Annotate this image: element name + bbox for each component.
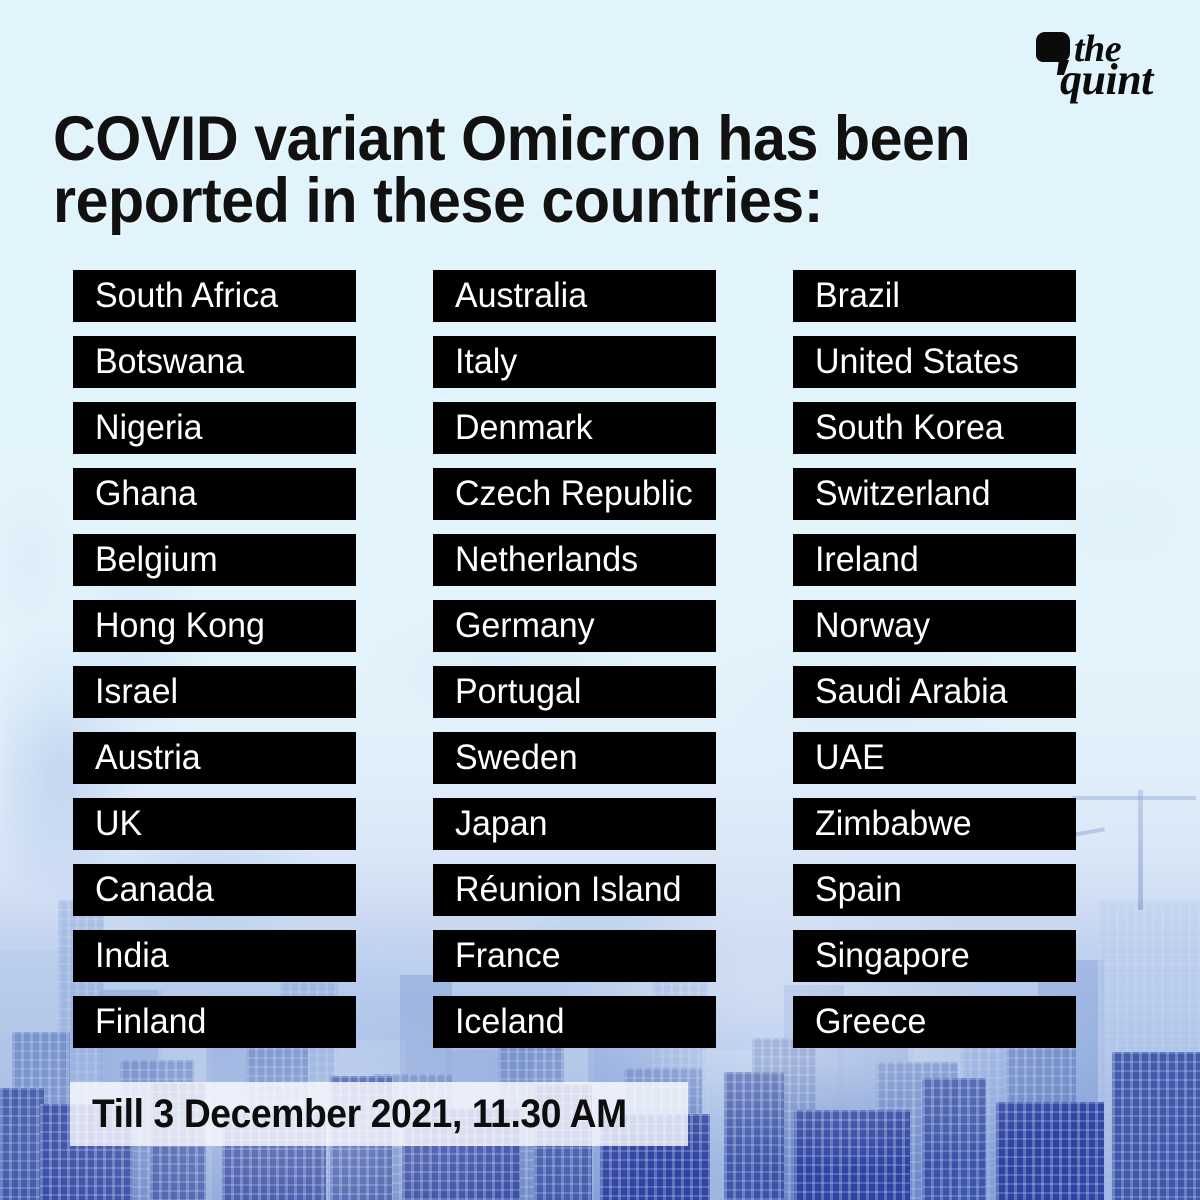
country-chip: Belgium: [73, 534, 356, 586]
country-label: Belgium: [95, 542, 218, 578]
country-chip: Japan: [433, 798, 716, 850]
country-list: South Africa Botswana Nigeria Ghana Belg…: [73, 270, 1083, 1048]
country-label: Denmark: [455, 410, 593, 446]
country-chip: Portugal: [433, 666, 716, 718]
country-chip: Sweden: [433, 732, 716, 784]
country-label: France: [455, 938, 561, 974]
country-label: Netherlands: [455, 542, 638, 578]
country-label: Czech Republic: [455, 476, 693, 512]
country-chip: UAE: [793, 732, 1076, 784]
country-label: Canada: [95, 872, 214, 908]
country-label: Greece: [815, 1004, 926, 1040]
country-label: Zimbabwe: [815, 806, 972, 842]
country-label: Israel: [95, 674, 178, 710]
country-label: Saudi Arabia: [815, 674, 1008, 710]
country-chip: Spain: [793, 864, 1076, 916]
country-label: Nigeria: [95, 410, 203, 446]
country-chip: Hong Kong: [73, 600, 356, 652]
country-chip: Czech Republic: [433, 468, 716, 520]
country-label: Germany: [455, 608, 595, 644]
country-label: UAE: [815, 740, 885, 776]
country-chip: Italy: [433, 336, 716, 388]
country-chip: Germany: [433, 600, 716, 652]
country-label: Spain: [815, 872, 902, 908]
country-chip: Australia: [433, 270, 716, 322]
country-label: UK: [95, 806, 142, 842]
country-label: Botswana: [95, 344, 244, 380]
country-chip: Nigeria: [73, 402, 356, 454]
country-label: South Korea: [815, 410, 1004, 446]
country-chip: Zimbabwe: [793, 798, 1076, 850]
country-label: South Africa: [95, 278, 278, 314]
country-label: Austria: [95, 740, 201, 776]
country-chip: France: [433, 930, 716, 982]
country-label: Finland: [95, 1004, 206, 1040]
country-chip: South Africa: [73, 270, 356, 322]
country-chip: Ireland: [793, 534, 1076, 586]
country-label: Réunion Island: [455, 872, 681, 908]
country-chip: Netherlands: [433, 534, 716, 586]
headline-line-1: COVID variant Omicron has been: [53, 108, 1096, 170]
country-label: Hong Kong: [95, 608, 265, 644]
country-chip: Réunion Island: [433, 864, 716, 916]
the-quint-logo[interactable]: the quint: [1030, 22, 1170, 100]
country-label: Norway: [815, 608, 930, 644]
country-chip: Switzerland: [793, 468, 1076, 520]
country-column-1: South Africa Botswana Nigeria Ghana Belg…: [73, 270, 356, 1048]
country-chip: Saudi Arabia: [793, 666, 1076, 718]
country-chip: Austria: [73, 732, 356, 784]
country-label: Ireland: [815, 542, 919, 578]
country-label: United States: [815, 344, 1019, 380]
country-label: Portugal: [455, 674, 581, 710]
country-chip: Iceland: [433, 996, 716, 1048]
country-chip: Brazil: [793, 270, 1076, 322]
country-label: India: [95, 938, 169, 974]
country-chip: Finland: [73, 996, 356, 1048]
country-chip: Canada: [73, 864, 356, 916]
country-label: Singapore: [815, 938, 970, 974]
timestamp-label: Till 3 December 2021, 11.30 AM: [92, 1093, 627, 1135]
country-chip: Botswana: [73, 336, 356, 388]
country-chip: Ghana: [73, 468, 356, 520]
country-chip: Denmark: [433, 402, 716, 454]
country-chip: South Korea: [793, 402, 1076, 454]
country-label: Australia: [455, 278, 587, 314]
country-column-2: Australia Italy Denmark Czech Republic N…: [433, 270, 716, 1048]
country-label: Iceland: [455, 1004, 564, 1040]
country-chip: Israel: [73, 666, 356, 718]
country-column-3: Brazil United States South Korea Switzer…: [793, 270, 1076, 1048]
country-chip: India: [73, 930, 356, 982]
country-chip: UK: [73, 798, 356, 850]
page-title: COVID variant Omicron has been reported …: [53, 108, 1096, 232]
country-label: Italy: [455, 344, 517, 380]
country-chip: Singapore: [793, 930, 1076, 982]
country-label: Ghana: [95, 476, 197, 512]
country-chip: Norway: [793, 600, 1076, 652]
country-chip: United States: [793, 336, 1076, 388]
timestamp-band: Till 3 December 2021, 11.30 AM: [70, 1082, 688, 1146]
country-label: Brazil: [815, 278, 900, 314]
country-label: Switzerland: [815, 476, 990, 512]
country-chip: Greece: [793, 996, 1076, 1048]
logo-text-quint: quint: [1060, 58, 1153, 102]
headline-line-2: reported in these countries:: [53, 170, 1096, 232]
infographic-poster: the quint COVID variant Omicron has been…: [0, 0, 1200, 1200]
country-label: Sweden: [455, 740, 578, 776]
country-label: Japan: [455, 806, 548, 842]
